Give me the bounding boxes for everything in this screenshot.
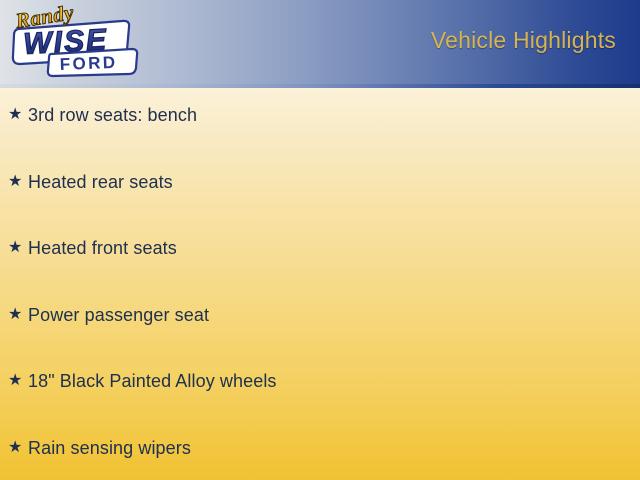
- highlight-label: 3rd row seats: bench: [28, 104, 197, 126]
- logo-ford-text: FORD: [59, 53, 117, 74]
- list-item: ★ 3rd row seats: bench: [8, 102, 197, 128]
- randy-wise-ford-logo: WISE FORD Randy: [4, 2, 144, 86]
- highlight-label: 18" Black Painted Alloy wheels: [28, 370, 277, 392]
- highlight-label: Rain sensing wipers: [28, 437, 191, 459]
- list-item: ★ Heated rear seats: [8, 169, 173, 195]
- highlight-label: Heated rear seats: [28, 171, 173, 193]
- star-icon: ★: [8, 240, 28, 256]
- vehicle-highlights-slide: WISE FORD Randy Vehicle Highlights ★ 3rd…: [0, 0, 640, 480]
- list-item: ★ 18" Black Painted Alloy wheels: [8, 368, 277, 394]
- list-item: ★ Heated front seats: [8, 235, 177, 261]
- header-bar: WISE FORD Randy Vehicle Highlights: [0, 0, 640, 88]
- list-item: ★ Rain sensing wipers: [8, 435, 191, 461]
- star-icon: ★: [8, 174, 28, 190]
- highlights-list: ★ 3rd row seats: bench ★ Heated rear sea…: [0, 88, 640, 480]
- list-item: ★ Power passenger seat: [8, 302, 209, 328]
- star-icon: ★: [8, 440, 28, 456]
- page-title: Vehicle Highlights: [431, 27, 616, 54]
- star-icon: ★: [8, 307, 28, 323]
- star-icon: ★: [8, 107, 28, 123]
- logo-graphic: WISE FORD Randy: [4, 2, 144, 86]
- highlight-label: Heated front seats: [28, 237, 177, 259]
- star-icon: ★: [8, 373, 28, 389]
- highlight-label: Power passenger seat: [28, 304, 209, 326]
